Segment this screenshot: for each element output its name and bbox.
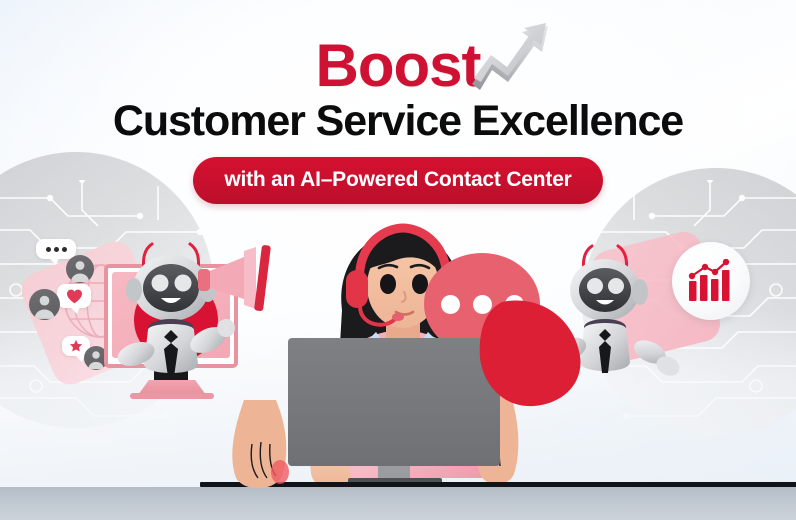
heart-glyph [66, 289, 83, 304]
megaphone-icon [196, 245, 282, 311]
analytics-badge [672, 242, 750, 320]
user-avatar-icon [29, 289, 60, 320]
left-monitor-plate [130, 393, 214, 399]
user-avatar-icon [66, 255, 94, 283]
boost-line: Boost [316, 36, 481, 96]
agent-left-hand [228, 400, 294, 492]
speech-dot [441, 295, 460, 314]
center-monitor-screen [288, 338, 500, 466]
desk-surface [0, 487, 796, 520]
chat-dots-icon [36, 239, 76, 259]
agent-red-sleeve [478, 300, 584, 408]
heart-icon [57, 284, 91, 308]
subtitle-pill: with an AI–Powered Contact Center [193, 157, 602, 204]
growth-arrow-icon [468, 20, 554, 96]
analytics-bar-chart-icon [687, 259, 735, 303]
page-title: Customer Service Excellence [0, 99, 796, 144]
star-glyph [69, 339, 83, 353]
page-title-highlight: Boost [316, 36, 481, 96]
headline-block: Boost Customer Service Excellence with a… [0, 36, 796, 204]
marketing-banner: Boost Customer Service Excellence with a… [0, 0, 796, 520]
